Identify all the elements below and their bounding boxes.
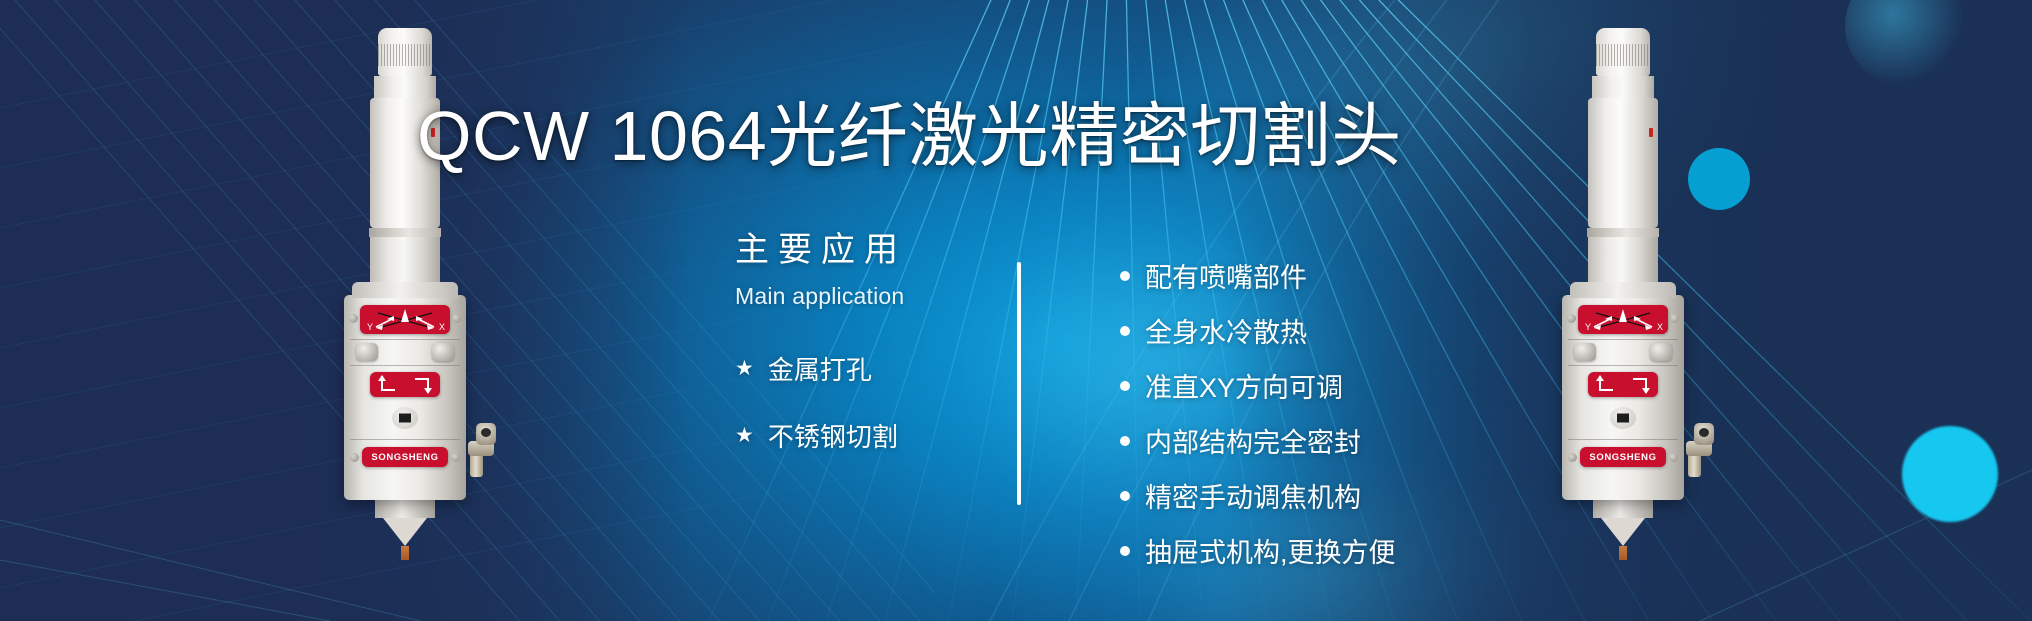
product-banner: Y X SONGSH	[0, 0, 2032, 621]
list-item: ★ 金属打孔	[735, 350, 975, 387]
product-cap	[378, 28, 432, 76]
product-xy-adjust-label: Y X	[360, 305, 450, 334]
product-nozzle-base	[375, 500, 435, 518]
product-screw	[1567, 314, 1576, 323]
product-seam	[1568, 339, 1678, 340]
product-indicator-dot	[1649, 128, 1653, 137]
product-nozzle-cone	[1601, 518, 1645, 546]
product-knurl-texture	[1596, 44, 1650, 66]
background-beam-lines	[0, 0, 2032, 621]
bullet-icon	[1120, 546, 1130, 556]
main-application-heading-cn: 主要应用	[735, 222, 975, 271]
product-screw	[350, 453, 359, 462]
product-xy-adjust-label: Y X	[1578, 305, 1668, 334]
list-item: 精密手动调焦机构	[1120, 476, 1396, 515]
list-item: 全身水冷散热	[1120, 311, 1396, 350]
product-adjust-knob	[432, 343, 454, 361]
product-screw	[1669, 453, 1678, 462]
list-item: 内部结构完全密封	[1120, 421, 1396, 460]
list-item: 准直XY方向可调	[1120, 366, 1396, 405]
bullet-icon	[1120, 381, 1130, 391]
banner-title: QCW 1064光纤激光精密切割头	[417, 97, 1617, 175]
product-shoulder	[1570, 282, 1676, 298]
bullet-icon	[1120, 436, 1130, 446]
svg-text:Y: Y	[367, 322, 373, 332]
list-item-label: 全身水冷散热	[1145, 311, 1307, 350]
svg-text:Y: Y	[1585, 322, 1591, 332]
product-ring	[369, 228, 441, 237]
star-icon: ★	[735, 425, 754, 446]
product-seam	[350, 365, 460, 366]
product-brand-label: SONGSHENG	[362, 447, 448, 467]
svg-text:X: X	[439, 322, 445, 332]
product-screw	[451, 453, 460, 462]
product-neck	[374, 76, 436, 98]
product-cap	[1596, 28, 1650, 76]
main-application-list: ★ 金属打孔 ★ 不锈钢切割	[735, 350, 975, 454]
bullet-icon	[1120, 271, 1130, 281]
product-lens-window	[1610, 407, 1636, 429]
product-gas-fitting	[1680, 423, 1714, 479]
product-screw	[1670, 314, 1679, 323]
product-seam	[1568, 439, 1678, 440]
decorative-circle-large	[1902, 426, 1998, 522]
list-item-label: 金属打孔	[768, 350, 872, 387]
product-gas-fitting	[462, 423, 496, 479]
product-nozzle-cone	[383, 518, 427, 546]
list-item-label: 准直XY方向可调	[1145, 366, 1343, 405]
product-knurl-texture	[378, 44, 432, 66]
list-item-label: 抽屉式机构,更换方便	[1145, 531, 1396, 570]
product-brand-label: SONGSHENG	[1580, 447, 1666, 467]
list-item: 抽屉式机构,更换方便	[1120, 531, 1396, 570]
bullet-icon	[1120, 491, 1130, 501]
svg-text:X: X	[1657, 322, 1663, 332]
product-adjust-knob	[356, 343, 378, 361]
product-screw	[349, 314, 358, 323]
product-ring	[1587, 228, 1659, 237]
product-screw	[1568, 453, 1577, 462]
list-item-label: 不锈钢切割	[768, 417, 898, 454]
product-lens-window	[392, 407, 418, 429]
product-neck	[1592, 76, 1654, 98]
product-adjust-knob	[1650, 343, 1672, 361]
product-body: Y X SONGSH	[344, 295, 466, 500]
product-direction-label	[370, 372, 440, 397]
vertical-divider	[1017, 262, 1021, 505]
list-item-label: 配有喷嘴部件	[1145, 256, 1307, 295]
product-direction-label	[1588, 372, 1658, 397]
main-application-heading-en: Main application	[735, 283, 975, 310]
list-item-label: 精密手动调焦机构	[1145, 476, 1361, 515]
product-seam	[350, 439, 460, 440]
product-seam	[350, 339, 460, 340]
star-icon: ★	[735, 358, 754, 379]
product-nozzle-tip	[1619, 546, 1627, 560]
list-item: ★ 不锈钢切割	[735, 417, 975, 454]
product-nozzle-base	[1593, 500, 1653, 518]
list-item-label: 内部结构完全密封	[1145, 421, 1361, 460]
product-screw	[452, 314, 461, 323]
bullet-icon	[1120, 326, 1130, 336]
product-nozzle-tip	[401, 546, 409, 560]
product-adjust-knob	[1574, 343, 1596, 361]
product-seam	[1568, 365, 1678, 366]
product-body: Y X SONGSH	[1562, 295, 1684, 500]
product-shoulder	[352, 282, 458, 298]
list-item: 配有喷嘴部件	[1120, 256, 1396, 295]
main-application-block: 主要应用 Main application ★ 金属打孔 ★ 不锈钢切割	[735, 222, 975, 484]
feature-list: 配有喷嘴部件 全身水冷散热 准直XY方向可调 内部结构完全密封 精密手动调焦机构…	[1120, 256, 1396, 586]
